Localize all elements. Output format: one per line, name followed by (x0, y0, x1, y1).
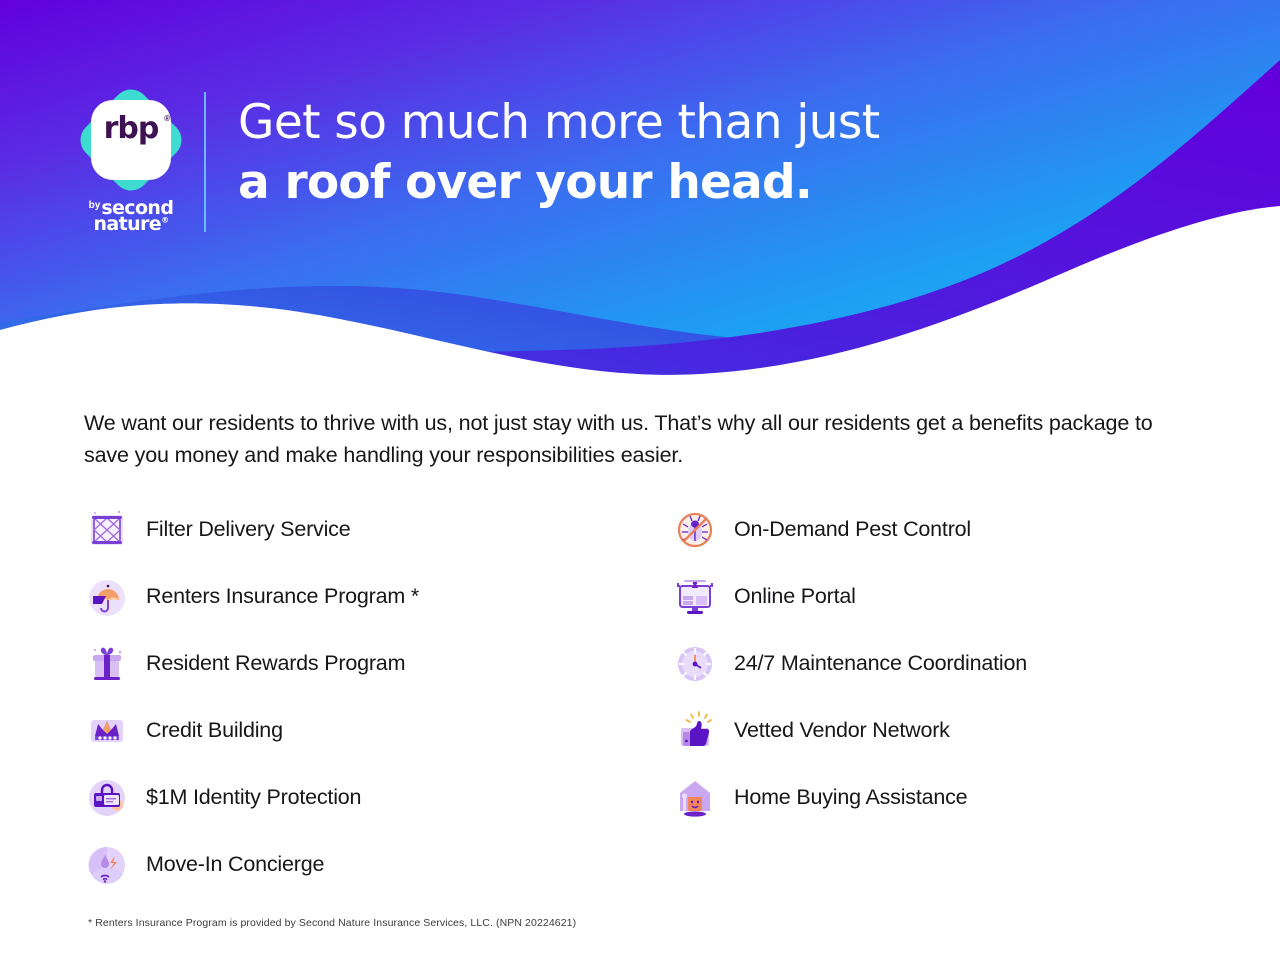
headline-line-2: a roof over your head. (238, 156, 998, 210)
benefit-item-vetted-vendor-network: Vetted Vendor Network (672, 697, 1194, 764)
house-key-icon (672, 775, 718, 821)
air-filter-icon (84, 507, 130, 553)
rbp-logo-lockup: rbp ® bysecond nature® (72, 88, 190, 234)
umbrella-shield-icon (84, 574, 130, 620)
logo-byline-line2: nature (93, 213, 161, 235)
benefit-item-pest-control: On-Demand Pest Control (672, 496, 1194, 563)
benefit-item-identity-protection: $1M Identity Protection (84, 764, 672, 831)
benefit-label: Filter Delivery Service (146, 517, 350, 542)
no-bug-icon (672, 507, 718, 553)
benefits-list: Filter Delivery Service Renters Insuranc… (84, 496, 1194, 898)
benefit-label: 24/7 Maintenance Coordination (734, 651, 1027, 676)
clock-icon (672, 641, 718, 687)
benefit-label: $1M Identity Protection (146, 785, 361, 810)
benefit-item-filter-delivery-service: Filter Delivery Service (84, 496, 672, 563)
gift-box-icon (84, 641, 130, 687)
benefit-item-resident-rewards-program: Resident Rewards Program (84, 630, 672, 697)
headline-line-1: Get so much more than just (238, 96, 998, 150)
benefit-item-online-portal: Online Portal (672, 563, 1194, 630)
benefit-label: Credit Building (146, 718, 283, 743)
benefit-label: Renters Insurance Program * (146, 584, 419, 609)
logo-byline-registered-mark: ® (161, 215, 168, 224)
benefit-label: Home Buying Assistance (734, 785, 967, 810)
logo-registered-mark: ® (164, 114, 170, 123)
benefit-label: Move-In Concierge (146, 852, 324, 877)
rbp-badge-icon: rbp ® (79, 88, 183, 192)
footnote-disclaimer: * Renters Insurance Program is provided … (88, 917, 576, 929)
benefit-item-home-buying-assistance: Home Buying Assistance (672, 764, 1194, 831)
header-vertical-divider (204, 92, 206, 232)
hero-banner: rbp ® bysecond nature® Get so much more … (0, 0, 1280, 380)
monitor-portal-icon (672, 574, 718, 620)
page-title: Get so much more than just a roof over y… (238, 96, 998, 210)
benefit-label: On-Demand Pest Control (734, 517, 971, 542)
benefit-item-maintenance-coordination: 24/7 Maintenance Coordination (672, 630, 1194, 697)
crown-stars-icon (84, 708, 130, 754)
wallet-card-icon (84, 775, 130, 821)
logo-byline-prefix: by (89, 200, 101, 211)
benefit-label: Resident Rewards Program (146, 651, 405, 676)
benefit-item-credit-building: Credit Building (84, 697, 672, 764)
thumbs-up-icon (672, 708, 718, 754)
benefit-item-move-in-concierge: Move-In Concierge (84, 831, 672, 898)
logo-byline: bysecond nature® (72, 199, 190, 233)
benefit-label: Vetted Vendor Network (734, 718, 950, 743)
utilities-wifi-icon (84, 842, 130, 888)
benefit-item-renters-insurance-program: Renters Insurance Program * (84, 563, 672, 630)
benefit-label: Online Portal (734, 584, 856, 609)
intro-paragraph: We want our residents to thrive with us,… (84, 408, 1164, 472)
